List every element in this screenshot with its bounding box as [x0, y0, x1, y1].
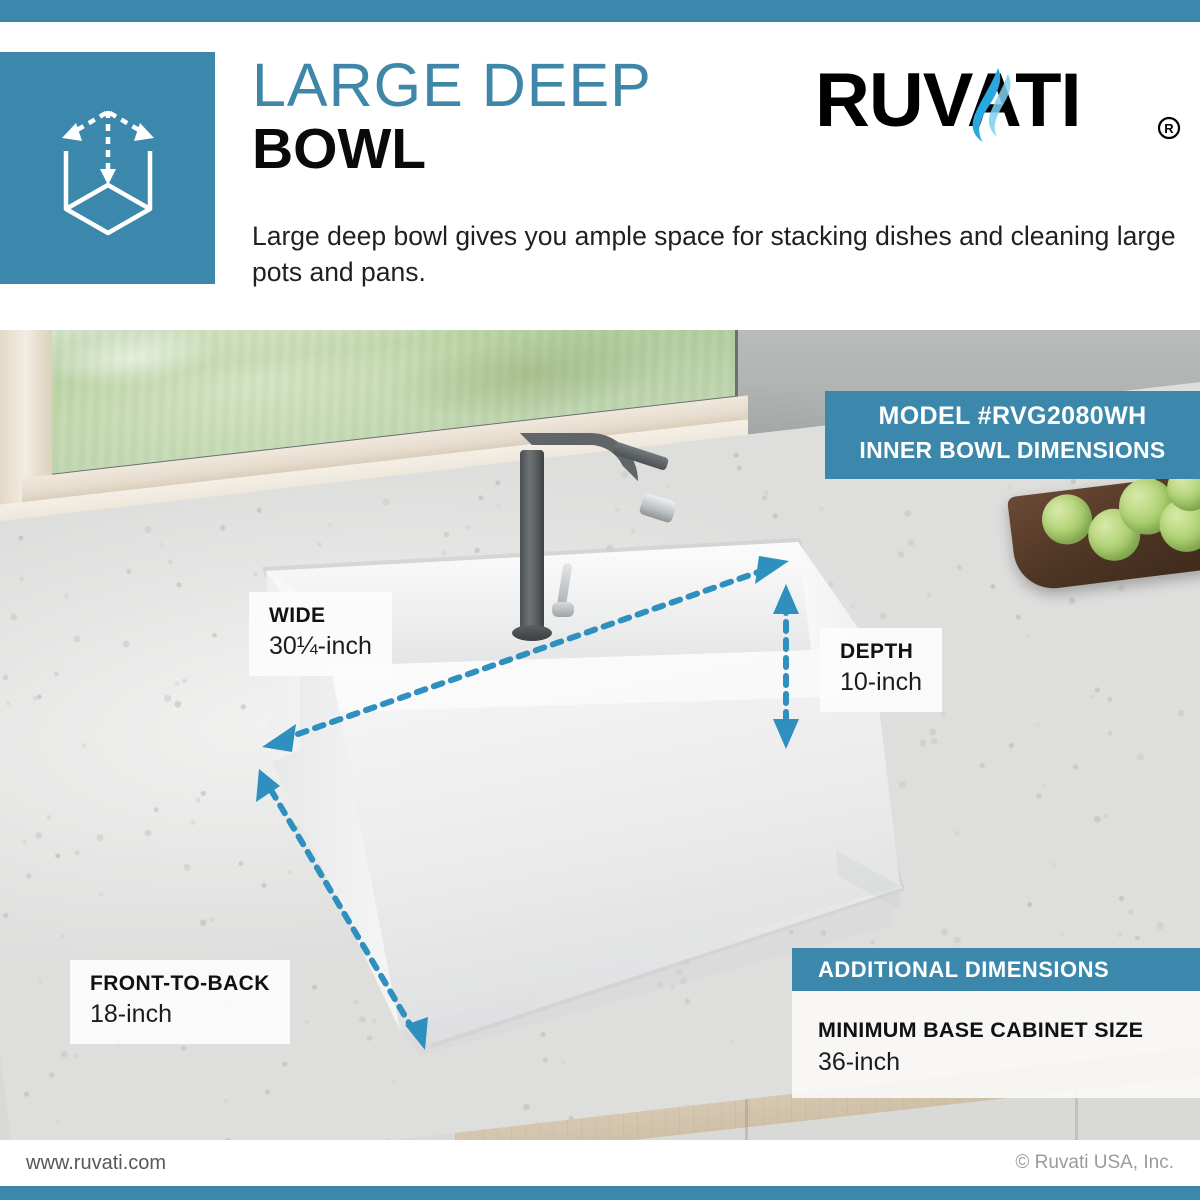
faucet-column: [520, 450, 544, 635]
deep-bowl-icon: [42, 93, 174, 243]
minimum-base-cabinet-size-label: MINIMUM BASE CABINET SIZE: [818, 1017, 1174, 1043]
callout-front-to-back-title: FRONT-TO-BACK: [90, 972, 270, 996]
minimum-base-cabinet-size-value: 36-inch: [818, 1046, 1174, 1078]
header-subtitle: Large deep bowl gives you ample space fo…: [252, 218, 1177, 290]
additional-dimensions-panel: ADDITIONAL DIMENSIONS MINIMUM BASE CABIN…: [792, 948, 1200, 1098]
model-badge: MODEL #RVG2080WH INNER BOWL DIMENSIONS: [825, 391, 1200, 479]
infographic-page: LARGE DEEP BOWL Large deep bowl gives yo…: [0, 0, 1200, 1200]
callout-wide: WIDE 30¼-inch: [249, 592, 392, 676]
ruvati-logo: RUVATI R: [815, 60, 1185, 148]
footer: www.ruvati.com © Ruvati USA, Inc.: [0, 1140, 1200, 1186]
callout-wide-value: 30¼-inch: [269, 631, 372, 662]
callout-front-to-back-value: 18-inch: [90, 999, 270, 1030]
bottom-accent-bar: [0, 1186, 1200, 1200]
deep-bowl-icon-tile: [0, 52, 215, 284]
additional-dimensions-body: MINIMUM BASE CABINET SIZE 36-inch: [792, 991, 1200, 1098]
callout-depth-value: 10-inch: [840, 667, 922, 698]
model-caption: INNER BOWL DIMENSIONS: [825, 434, 1200, 466]
header: LARGE DEEP BOWL Large deep bowl gives yo…: [0, 22, 1200, 330]
callout-depth: DEPTH 10-inch: [820, 628, 942, 712]
apple: [1039, 492, 1095, 548]
top-accent-bar: [0, 0, 1200, 22]
logo-wordmark: RUVATI: [815, 60, 1081, 143]
callout-wide-title: WIDE: [269, 604, 372, 628]
model-number: MODEL #RVG2080WH: [825, 395, 1200, 437]
callout-depth-title: DEPTH: [840, 640, 922, 664]
footer-copyright: © Ruvati USA, Inc.: [1015, 1152, 1174, 1174]
callout-front-to-back: FRONT-TO-BACK 18-inch: [70, 960, 290, 1044]
faucet-handle-knob: [552, 602, 574, 617]
footer-website[interactable]: www.ruvati.com: [26, 1152, 166, 1175]
registered-trademark-mark: R: [1164, 121, 1174, 136]
faucet-base: [512, 625, 552, 641]
additional-dimensions-heading: ADDITIONAL DIMENSIONS: [792, 948, 1200, 991]
